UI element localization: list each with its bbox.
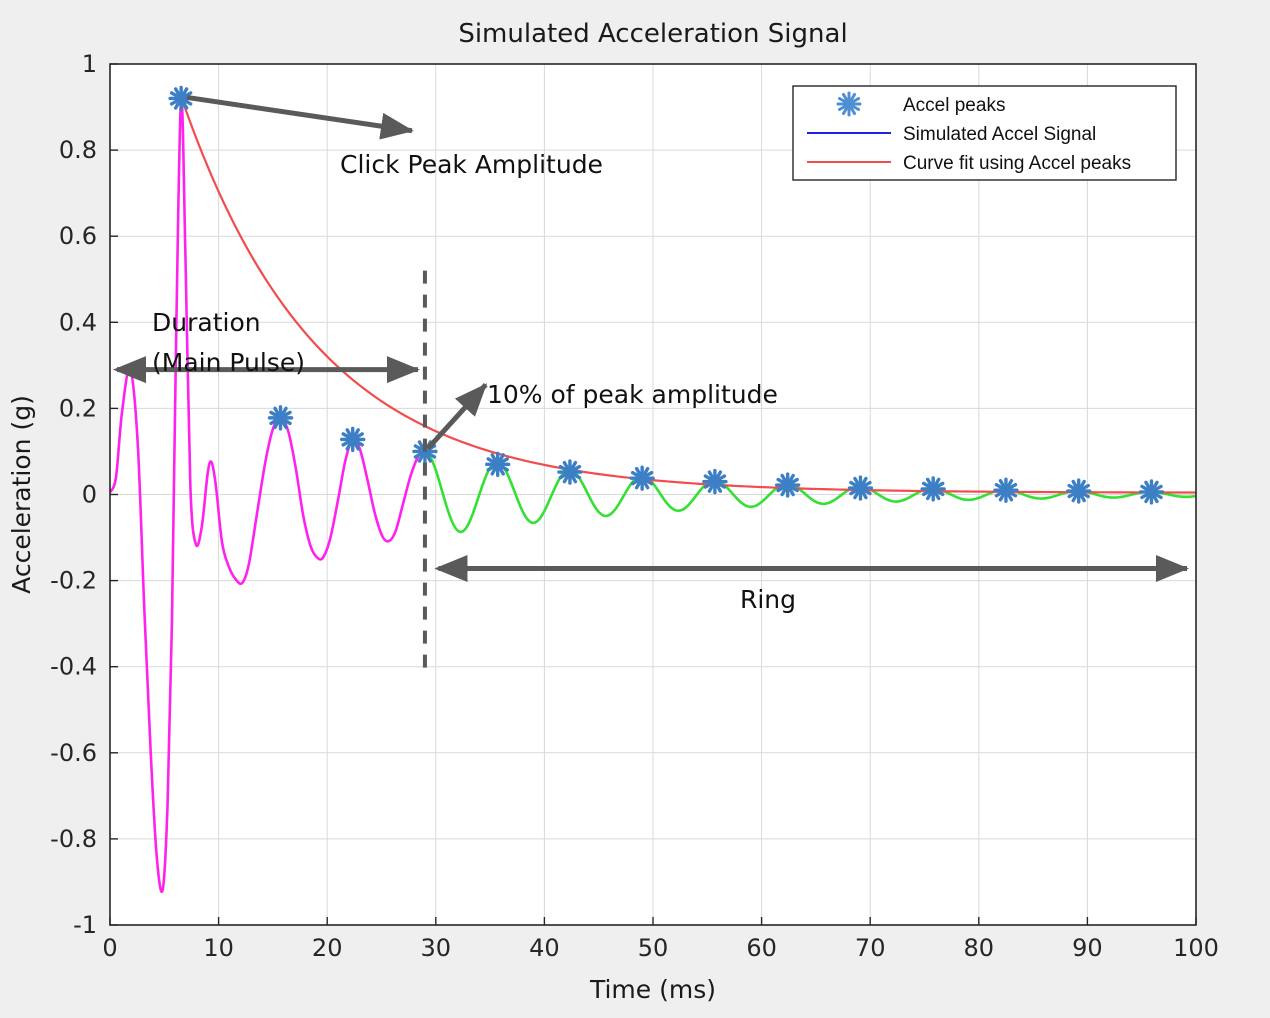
- y-tick-label: 0.2: [59, 394, 97, 422]
- legend-item-label: Accel peaks: [903, 95, 1005, 116]
- x-tick-label: 50: [638, 934, 669, 962]
- y-tick-label: 0: [82, 481, 97, 509]
- x-tick-label: 90: [1072, 934, 1103, 962]
- y-tick-label: -0.8: [50, 825, 97, 853]
- duration-main-pulse-label-line2: (Main Pulse): [152, 348, 305, 377]
- x-tick-label: 20: [312, 934, 343, 962]
- y-tick-label: -0.2: [50, 567, 97, 595]
- duration-main-pulse-label-line1: Duration: [152, 308, 261, 337]
- legend-item-label: Simulated Accel Signal: [903, 124, 1096, 145]
- x-tick-label: 40: [529, 934, 560, 962]
- x-tick-label: 100: [1173, 934, 1219, 962]
- chart-figure: 010203040506070809010010.80.60.40.20-0.2…: [0, 0, 1270, 1018]
- click-peak-amplitude-label: Click Peak Amplitude: [340, 150, 603, 179]
- y-tick-label: 0.4: [59, 308, 97, 336]
- legend-item-label: Curve fit using Accel peaks: [903, 153, 1131, 174]
- ring-span-label: Ring: [740, 585, 796, 614]
- y-axis-label: Acceleration (g): [7, 395, 36, 594]
- x-axis-label: Time (ms): [589, 975, 716, 1004]
- y-tick-label: -0.6: [50, 739, 97, 767]
- x-tick-label: 70: [855, 934, 886, 962]
- x-tick-label: 60: [746, 934, 777, 962]
- x-tick-label: 80: [964, 934, 995, 962]
- y-tick-label: 1: [82, 50, 97, 78]
- x-tick-label: 30: [421, 934, 452, 962]
- chart-title: Simulated Acceleration Signal: [458, 19, 847, 49]
- y-tick-label: 0.8: [59, 136, 97, 164]
- x-tick-label: 10: [203, 934, 234, 962]
- y-tick-label: -0.4: [50, 653, 97, 681]
- y-tick-label: 0.6: [59, 222, 97, 250]
- ten-percent-peak-amplitude-label: 10% of peak amplitude: [487, 380, 778, 409]
- x-tick-label: 0: [102, 934, 117, 962]
- legend: Accel peaksSimulated Accel SignalCurve f…: [793, 86, 1176, 180]
- y-tick-label: -1: [73, 911, 97, 939]
